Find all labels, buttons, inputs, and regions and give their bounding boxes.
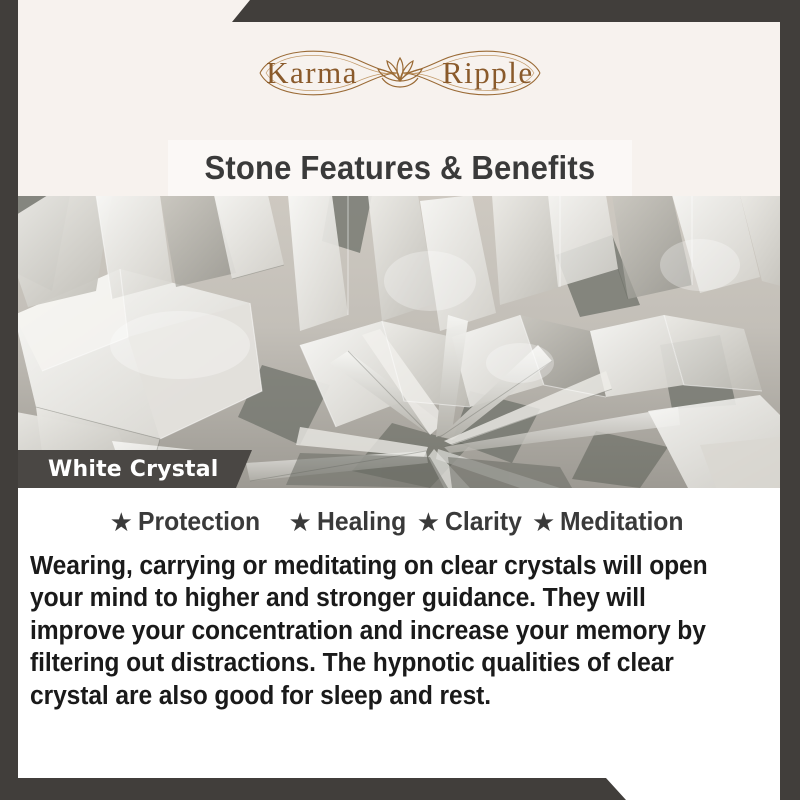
stone-description: Wearing, carrying or meditating on clear… <box>30 550 738 712</box>
karma-ripple-logo-svg: Karma Ripple <box>250 40 550 106</box>
benefit-item-healing: ★ Healing <box>289 506 411 537</box>
stone-name: White Crystal <box>48 457 219 482</box>
benefit-item-protection: ★ Protection <box>110 506 267 537</box>
brand-logo: Karma Ripple <box>0 40 800 106</box>
brand-word-left: Karma <box>266 55 358 90</box>
lotus-flower-icon <box>378 58 422 87</box>
star-icon: ★ <box>110 509 133 535</box>
benefit-label: Healing <box>317 506 406 537</box>
benefit-label: Protection <box>138 506 260 537</box>
benefits-row: ★ Protection ★ Healing ★ Clarity ★ Medit… <box>0 506 800 537</box>
crystal-photo-art <box>0 195 800 488</box>
content-area: ★ Protection ★ Healing ★ Clarity ★ Medit… <box>0 488 800 800</box>
stone-name-banner: White Crystal <box>0 450 252 488</box>
page-title-plate: Stone Features & Benefits <box>168 140 632 196</box>
crystal-photo: White Crystal <box>0 195 800 488</box>
stone-features-infographic: Karma Ripple Stone Features & Benefits <box>0 0 800 800</box>
page-title: Stone Features & Benefits <box>205 149 596 187</box>
star-icon: ★ <box>532 509 555 535</box>
benefit-item-clarity: ★ Clarity <box>417 506 526 537</box>
star-icon: ★ <box>289 509 312 535</box>
benefit-label: Clarity <box>445 506 522 537</box>
brand-word-right: Ripple <box>442 55 534 90</box>
star-icon: ★ <box>417 509 440 535</box>
benefit-label: Meditation <box>560 506 684 537</box>
benefit-item-meditation: ★ Meditation <box>532 506 690 537</box>
